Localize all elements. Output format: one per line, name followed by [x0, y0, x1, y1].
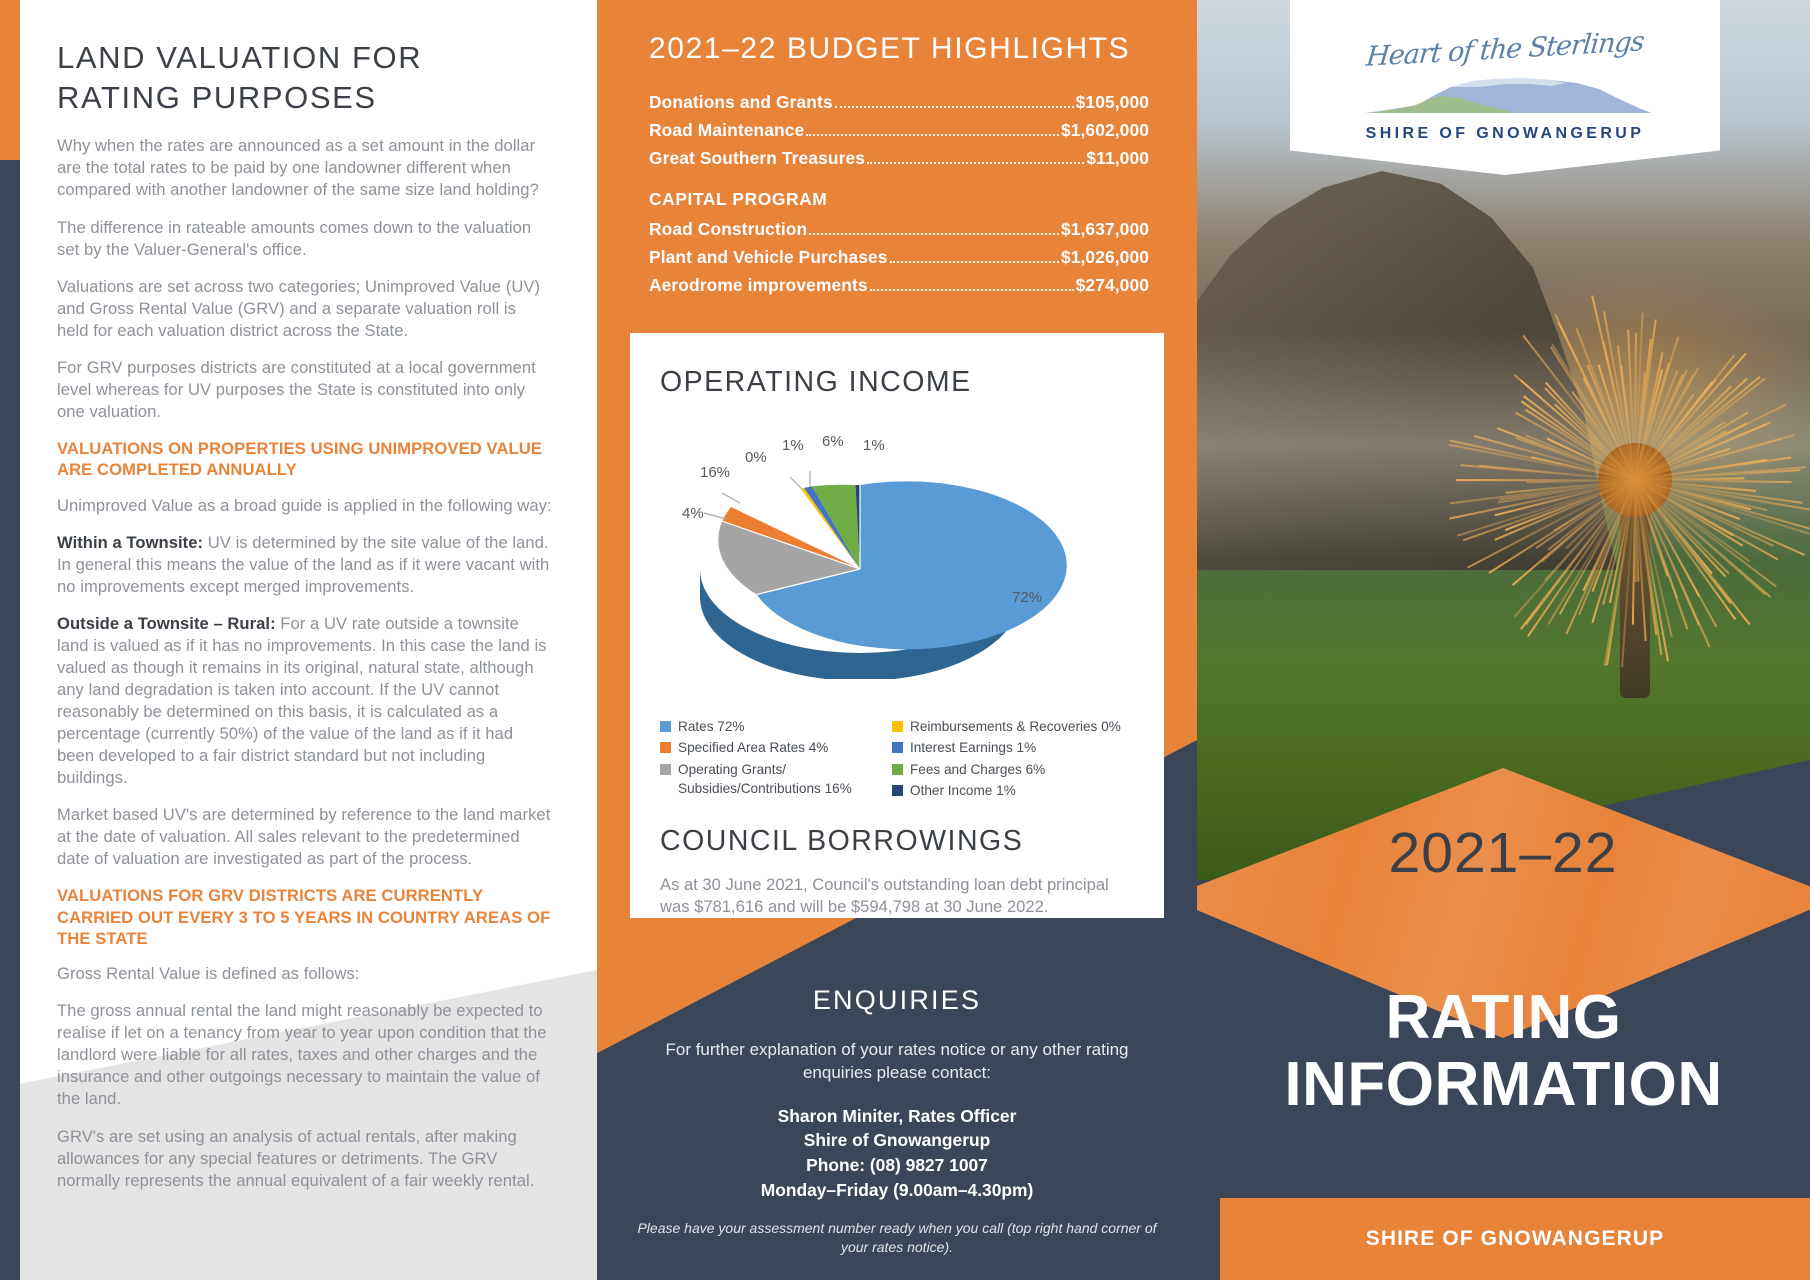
page-title-land-valuation: LAND VALUATION FOR RATING PURPOSES	[57, 38, 552, 117]
budget-highlights-block: 2021–22 BUDGET HIGHLIGHTS Donations and …	[649, 32, 1149, 303]
legend-item: Rates 72%	[660, 717, 878, 736]
label-outside-townsite: Outside a Townsite – Rural:	[57, 614, 276, 633]
navy-edge-bar	[0, 160, 20, 1280]
budget-item-value: $1,637,000	[1061, 219, 1149, 240]
council-borrowings-text: As at 30 June 2021, Council's outstandin…	[660, 874, 1130, 918]
logo-shire-name: SHIRE OF GNOWANGERUP	[1310, 125, 1700, 143]
operating-income-pie-chart: 72% 4% 16% 0% 1% 6% 1%	[630, 407, 1164, 679]
year-label: 2021–22	[1389, 820, 1618, 886]
council-borrowings-title: COUNCIL BORROWINGS	[660, 825, 1130, 858]
pie-label-rates: 72%	[1012, 589, 1042, 606]
legend-item: Reimbursements & Recoveries 0%	[892, 717, 1150, 736]
enquiries-block: ENQUIRIES For further explanation of you…	[637, 985, 1157, 1257]
legend-label: Rates 72%	[678, 717, 745, 736]
budget-row: Plant and Vehicle Purchases $1,026,000	[649, 247, 1149, 268]
budget-row: Donations and Grants $105,000	[649, 92, 1149, 113]
budget-highlights-title: 2021–22 BUDGET HIGHLIGHTS	[649, 32, 1149, 66]
budget-item-label: Great Southern Treasures	[649, 148, 865, 169]
legend-item: Interest Earnings 1%	[892, 738, 1150, 757]
legend-item: Specified Area Rates 4%	[660, 738, 878, 757]
cover-main-title: RATING INFORMATION	[1197, 985, 1810, 1119]
heading-unimproved-value: VALUATIONS ON PROPERTIES USING UNIMPROVE…	[57, 438, 552, 480]
legend-item: Operating Grants/ Subsidies/Contribution…	[660, 760, 878, 799]
enquiries-intro: For further explanation of your rates no…	[637, 1038, 1157, 1085]
budget-item-label: Road Construction	[649, 219, 807, 240]
brochure-page: LAND VALUATION FOR RATING PURPOSES Why w…	[0, 0, 1810, 1280]
dot-leader	[890, 261, 1059, 263]
paragraph-grv-analysis: GRV's are set using an analysis of actua…	[57, 1126, 552, 1192]
panel-right-cover: 2021–22 RATING INFORMATION SHIRE OF GNOW…	[1197, 0, 1810, 1280]
legend-label: Operating Grants/ Subsidies/Contribution…	[678, 760, 852, 799]
legend-swatch-icon	[660, 742, 671, 753]
legend-label: Specified Area Rates 4%	[678, 738, 828, 757]
paragraph-grv-intro: Gross Rental Value is defined as follows…	[57, 963, 552, 985]
legend-label: Fees and Charges 6%	[910, 760, 1045, 779]
pie-label-other-income: 1%	[863, 437, 885, 454]
legend-label: Reimbursements & Recoveries 0%	[910, 717, 1121, 736]
budget-item-label: Plant and Vehicle Purchases	[649, 247, 888, 268]
budget-item-value: $1,602,000	[1061, 120, 1149, 141]
budget-item-value: $11,000	[1086, 148, 1149, 169]
legend-swatch-icon	[892, 785, 903, 796]
operating-income-card: OPERATING INCOME	[630, 333, 1164, 918]
council-borrowings-block: COUNCIL BORROWINGS As at 30 June 2021, C…	[660, 825, 1130, 918]
legend-column-left: Rates 72% Specified Area Rates 4% Operat…	[660, 717, 878, 802]
operating-income-title: OPERATING INCOME	[660, 366, 1164, 399]
paragraph-uv-intro: Unimproved Value as a broad guide is app…	[57, 495, 552, 517]
paragraph-why-rates: Why when the rates are announced as a se…	[57, 135, 552, 201]
left-content: LAND VALUATION FOR RATING PURPOSES Why w…	[57, 38, 552, 1207]
budget-row: Road Construction $1,637,000	[649, 219, 1149, 240]
budget-row: Great Southern Treasures $11,000	[649, 148, 1149, 169]
capital-program-heading: CAPITAL PROGRAM	[649, 189, 1149, 210]
legend-swatch-icon	[660, 721, 671, 732]
panel-middle: 2021–22 BUDGET HIGHLIGHTS Donations and …	[597, 0, 1197, 1280]
paragraph-categories: Valuations are set across two categories…	[57, 276, 552, 342]
pie-label-fees-and-charges: 6%	[822, 433, 844, 450]
panel-left: LAND VALUATION FOR RATING PURPOSES Why w…	[0, 0, 597, 1280]
legend-swatch-icon	[892, 742, 903, 753]
mountain-range-icon	[1355, 65, 1655, 117]
dot-leader	[809, 233, 1059, 235]
legend-swatch-icon	[892, 721, 903, 732]
legend-label: Other Income 1%	[910, 781, 1016, 800]
paragraph-difference: The difference in rateable amounts comes…	[57, 217, 552, 261]
legend-swatch-icon	[660, 764, 671, 775]
text-outside-townsite: For a UV rate outside a townsite land is…	[57, 614, 547, 787]
grass-tree-spike	[1456, 479, 1635, 482]
pie-label-interest-earnings: 1%	[782, 437, 804, 454]
dot-leader	[870, 289, 1074, 291]
paragraph-outside-townsite: Outside a Townsite – Rural: For a UV rat…	[57, 613, 552, 790]
paragraph-within-townsite: Within a Townsite: UV is determined by t…	[57, 532, 552, 598]
budget-row: Aerodrome improvements $274,000	[649, 275, 1149, 296]
paragraph-market-based: Market based UV's are determined by refe…	[57, 804, 552, 870]
pie-label-reimbursements: 0%	[745, 449, 767, 466]
enquiries-title: ENQUIRIES	[637, 985, 1157, 1016]
heading-grv-districts: VALUATIONS FOR GRV DISTRICTS ARE CURRENT…	[57, 885, 552, 949]
dot-leader	[867, 162, 1084, 164]
legend-item: Other Income 1%	[892, 781, 1150, 800]
dot-leader	[835, 106, 1074, 108]
legend-swatch-icon	[892, 764, 903, 775]
cover-footer-label: SHIRE OF GNOWANGERUP	[1366, 1227, 1665, 1251]
enquiries-contact: Sharon Miniter, Rates Officer Shire of G…	[637, 1104, 1157, 1203]
label-within-townsite: Within a Townsite:	[57, 533, 203, 552]
budget-item-label: Donations and Grants	[649, 92, 833, 113]
budget-item-value: $274,000	[1076, 275, 1149, 296]
cover-footer-bar: SHIRE OF GNOWANGERUP	[1220, 1198, 1810, 1280]
orange-edge-bar	[0, 0, 20, 160]
enquiries-note: Please have your assessment number ready…	[637, 1219, 1157, 1257]
pie-chart-svg	[630, 407, 1164, 679]
budget-item-label: Road Maintenance	[649, 120, 804, 141]
paragraph-grv-definition: The gross annual rental the land might r…	[57, 1000, 552, 1110]
pie-chart-legend: Rates 72% Specified Area Rates 4% Operat…	[660, 717, 1150, 802]
pie-label-operating-grants: 16%	[700, 464, 730, 481]
legend-item: Fees and Charges 6%	[892, 760, 1150, 779]
budget-item-value: $105,000	[1076, 92, 1149, 113]
budget-row: Road Maintenance $1,602,000	[649, 120, 1149, 141]
legend-column-right: Reimbursements & Recoveries 0% Interest …	[892, 717, 1150, 802]
budget-item-label: Aerodrome improvements	[649, 275, 868, 296]
budget-item-value: $1,026,000	[1061, 247, 1149, 268]
shire-logo: Heart of the Sterlings SHIRE OF GNOWANGE…	[1310, 18, 1700, 168]
legend-label: Interest Earnings 1%	[910, 738, 1036, 757]
paragraph-grv-districts: For GRV purposes districts are constitut…	[57, 357, 552, 423]
dot-leader	[806, 134, 1059, 136]
pie-label-specified-area-rates: 4%	[682, 505, 704, 522]
grass-tree-plant	[1465, 270, 1805, 690]
